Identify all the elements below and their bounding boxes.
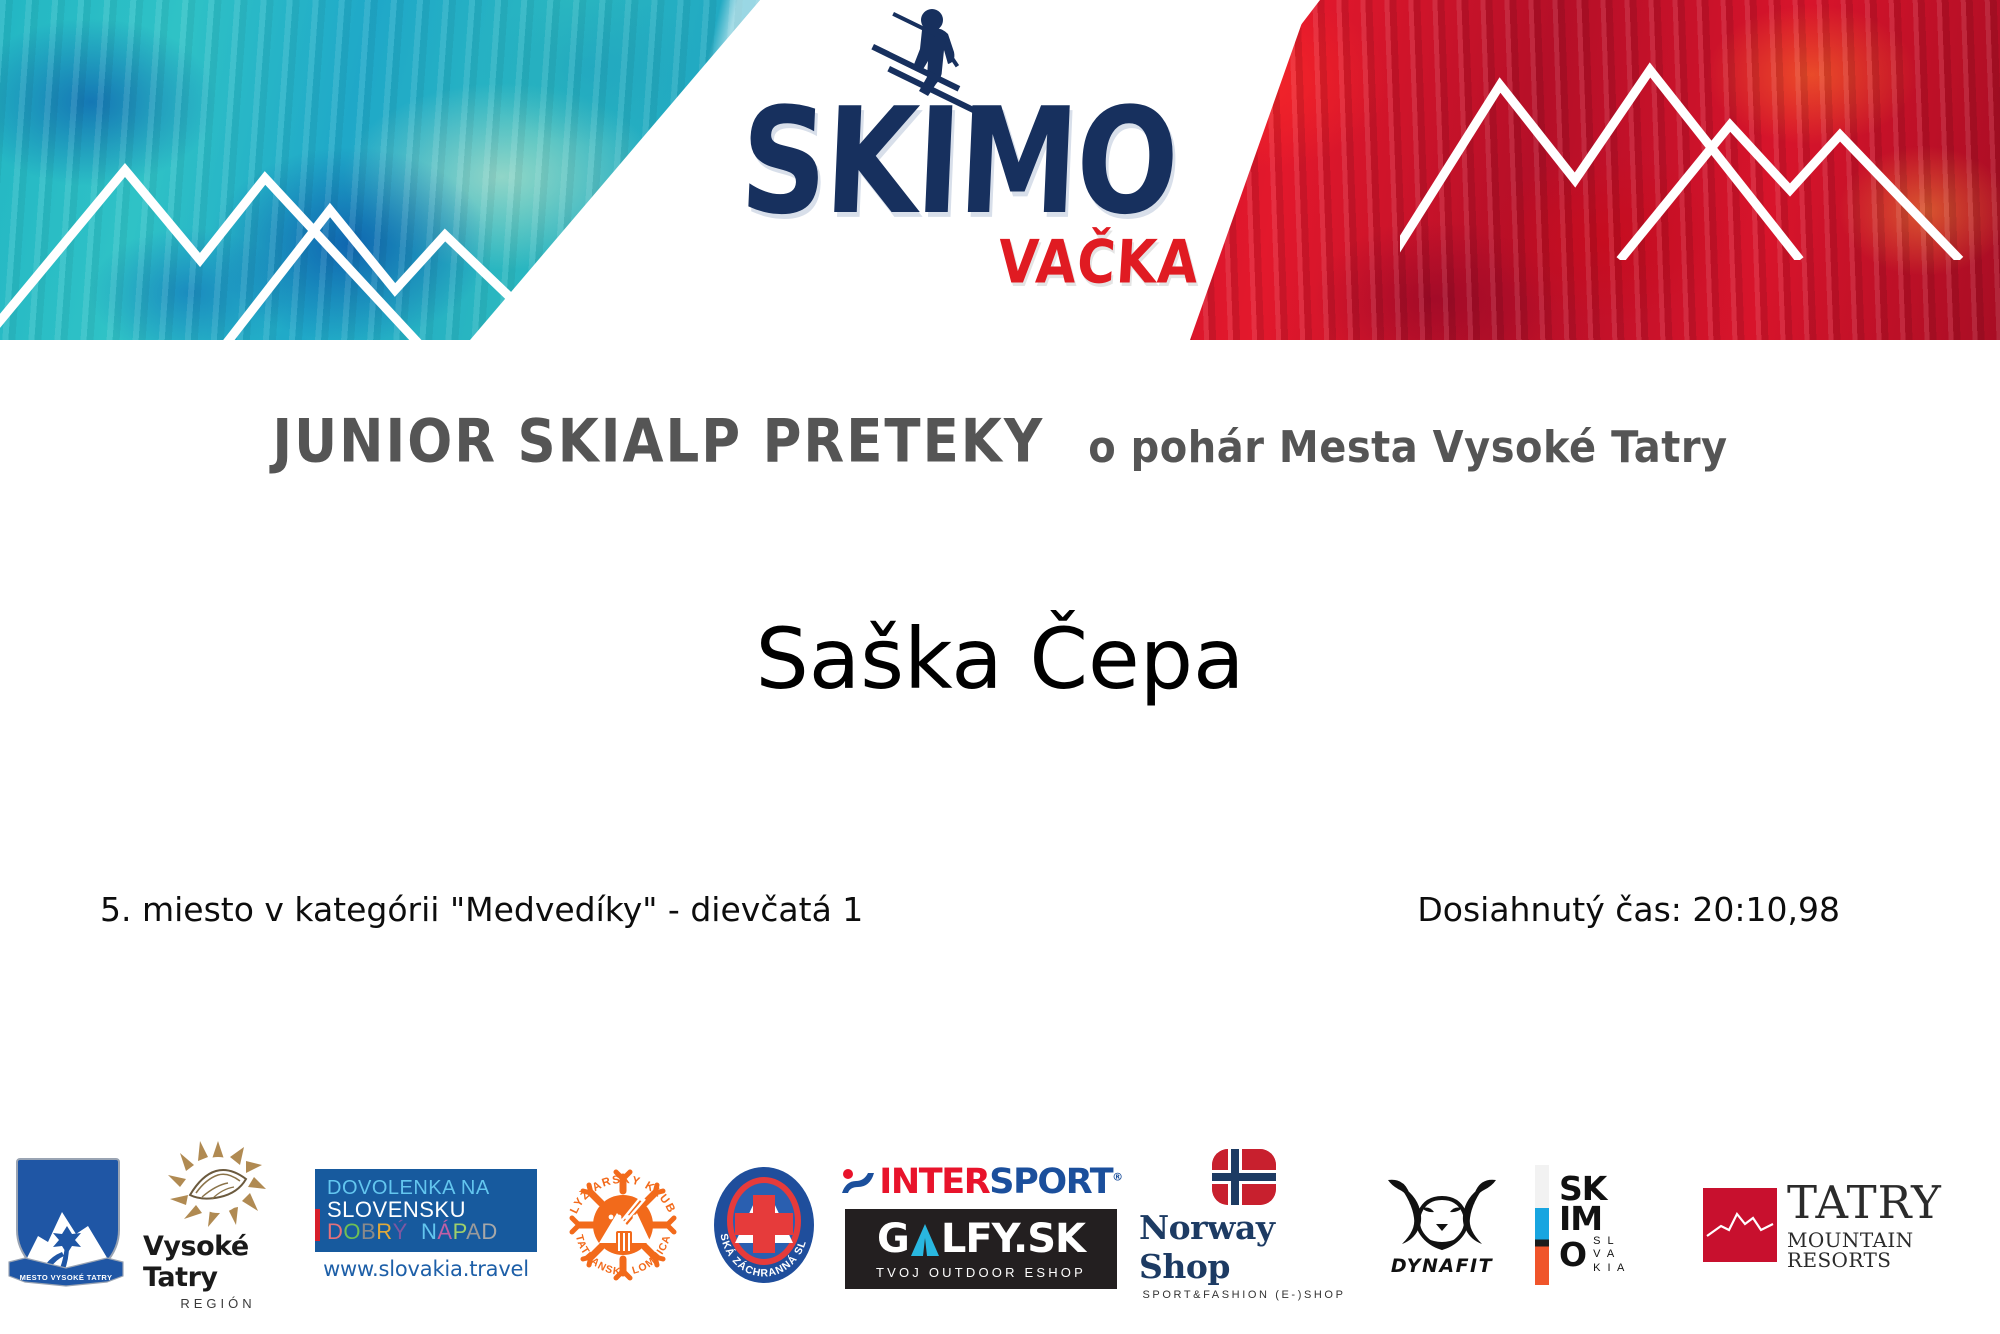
skimo-country-3: K I A — [1593, 1262, 1626, 1276]
norway-shop-tagline: SPORT&FASHION (E-)SHOP — [1142, 1289, 1345, 1301]
sponsor-norway-shop: Norway Shop SPORT&FASHION (E-)SHOP — [1139, 1149, 1349, 1301]
crest-ribbon-text: MESTO VYSOKÉ TATRY — [7, 1273, 125, 1282]
sponsor-lyziarsky-klub: LYŽIARSKY KLUB TATRANSKÁ LOMNICA — [559, 1161, 687, 1289]
vysoke-tatry-name: Vysoké Tatry — [143, 1231, 293, 1293]
page-title: JUNIOR SKIALP PRETEKY — [272, 408, 1044, 476]
norway-shop-wordmark: Norway Shop — [1139, 1208, 1349, 1286]
skimo-slovakia-line2: IM — [1559, 1204, 1626, 1234]
sponsor-mesto-vysoke-tatry: MESTO VYSOKÉ TATRY — [7, 1154, 125, 1296]
intersport-wordmark: INTERSPORT® — [879, 1162, 1122, 1202]
snow-leopard-icon — [1382, 1174, 1502, 1252]
horska-zachranna-sluzba-icon: HORSKÁ ZÁCHRANNÁ SLUŽBA — [705, 1159, 823, 1291]
sponsor-intersport: INTERSPORT® — [840, 1162, 1122, 1202]
intersport-registered: ® — [1112, 1170, 1122, 1183]
skimo-logo: SKIMO VAČKA — [700, 0, 1260, 330]
skimo-slovakia-text: SK IM O S L V A K I A — [1559, 1165, 1626, 1285]
sponsor-dynafit: DYNAFIT — [1367, 1174, 1517, 1277]
skimo-slovakia-line3: O — [1559, 1240, 1586, 1270]
slovakia-travel-box: DOVOLENKA NA SLOVENSKU DOBRÝ NÁPAD — [315, 1169, 537, 1251]
intersport-text-b: SPORT — [989, 1162, 1112, 1202]
tatry-mountain-line1: TATRY — [1787, 1180, 1993, 1225]
skimo-country-2: V A — [1593, 1248, 1626, 1262]
tatry-mountain-text: TATRY MOUNTAIN RESORTS — [1787, 1180, 1993, 1270]
sponsor-galfy: G LFY.SK TVOJ OUTDOOR ESHOP — [845, 1209, 1117, 1289]
certificate-page: SKIMO VAČKA JUNIOR SKIALP PRETEKY o pohá… — [0, 0, 2000, 1334]
result-placement: 5. miesto v kategórii "Medvedíky" - diev… — [100, 890, 863, 929]
slovakia-travel-line1: DOVOLENKA NA — [327, 1178, 527, 1198]
dynafit-wordmark: DYNAFIT — [1391, 1255, 1493, 1277]
norway-flag-icon — [1212, 1149, 1276, 1205]
slovakia-travel-url: www.slovakia.travel — [323, 1257, 529, 1281]
galfy-wordmark: G LFY.SK — [877, 1219, 1085, 1259]
tatry-mountain-square-icon — [1703, 1188, 1777, 1262]
sponsor-horska-zachranna-sluzba: HORSKÁ ZÁCHRANNÁ SLUŽBA — [705, 1159, 823, 1291]
skimo-slovakia-line3-row: O S L V A K I A — [1559, 1235, 1626, 1276]
slovakia-travel-line2: SLOVENSKU — [327, 1199, 527, 1221]
sponsor-vysoke-tatry-region: Vysoké Tatry REGIÓN — [143, 1139, 293, 1311]
galfy-tagline: TVOJ OUTDOOR ESHOP — [876, 1265, 1086, 1280]
participant-name: Saška Čepa — [0, 610, 2000, 708]
sponsor-intersport-galfy: INTERSPORT® G LFY.SK TVOJ OUTDOOR ESHOP — [841, 1162, 1121, 1289]
page-subtitle: o pohár Mesta Vysoké Tatry — [1088, 422, 1727, 473]
intersport-mark-icon — [840, 1169, 874, 1195]
mountain-outline-right-icon — [1400, 30, 2000, 260]
result-time: Dosiahnutý čas: 20:10,98 — [1417, 890, 1900, 929]
sponsor-tatry-mountain-resorts: TATRY MOUNTAIN RESORTS — [1703, 1180, 1993, 1270]
skimo-slovakia-logo: SK IM O S L V A K I A — [1535, 1165, 1685, 1285]
vacka-logo-text: VAČKA — [996, 233, 1200, 293]
tatry-mountain-line2: MOUNTAIN RESORTS — [1787, 1230, 1993, 1270]
slovakia-travel-accent-bar — [315, 1179, 320, 1241]
skimo-country-1: S L — [1593, 1235, 1626, 1249]
sponsor-slovakia-travel: DOVOLENKA NA SLOVENSKU DOBRÝ NÁPAD www.s… — [311, 1169, 541, 1280]
slovakia-travel-line3: DOBRÝ NÁPAD — [327, 1221, 527, 1243]
vysoke-tatry-region-label: REGIÓN — [180, 1296, 255, 1311]
intersport-text-a: INTER — [879, 1162, 989, 1202]
mountain-outline-left-icon — [0, 60, 660, 340]
lyziarsky-klub-icon: LYŽIARSKY KLUB TATRANSKÁ LOMNICA — [559, 1161, 687, 1289]
skimo-slovakia-color-bar — [1535, 1165, 1549, 1285]
banner-header: SKIMO VAČKA — [0, 0, 2000, 340]
mesto-vysoke-tatry-crest-icon: MESTO VYSOKÉ TATRY — [7, 1154, 125, 1296]
vysoke-tatry-sun-icon — [166, 1139, 270, 1229]
result-row: 5. miesto v kategórii "Medvedíky" - diev… — [0, 890, 2000, 929]
skimo-slovakia-country: S L V A K I A — [1593, 1235, 1626, 1276]
certificate-title-row: JUNIOR SKIALP PRETEKY o pohár Mesta Vyso… — [0, 415, 2000, 476]
tatry-mountain-resorts-logo: TATRY MOUNTAIN RESORTS — [1703, 1180, 1993, 1270]
sponsor-logo-row: MESTO VYSOKÉ TATRY Vysoké Ta — [0, 1130, 2000, 1320]
skimo-logo-text: SKIMO — [738, 90, 1180, 236]
galfy-mountain-a-icon — [910, 1222, 940, 1256]
sponsor-skimo-slovakia: SK IM O S L V A K I A — [1535, 1165, 1685, 1285]
